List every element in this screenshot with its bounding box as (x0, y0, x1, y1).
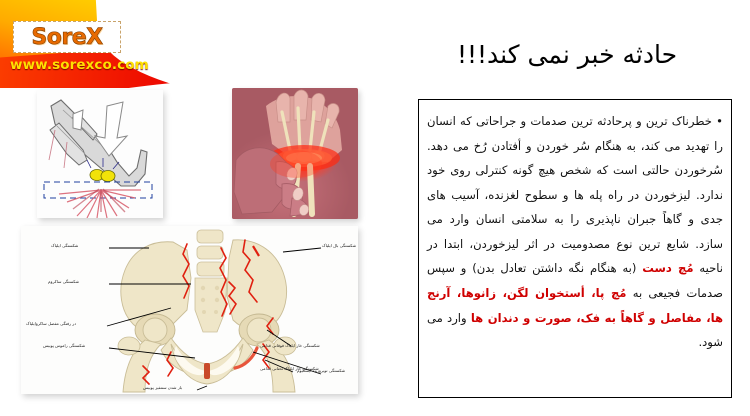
label-pubic-ramus-fracture: شکستگی راموس پوبیس (43, 344, 85, 349)
page-title: حادثه خبر نمی کند!!! (402, 40, 732, 69)
label-sacroiliac-dislocation: در رفتگی مفصل ساکروایلیاک (26, 322, 76, 327)
wrist-pain-photo (232, 88, 358, 219)
label-asis-fracture: شکستگی خار ایلیاک فوقانی قدامی (260, 344, 320, 349)
pelvis-fracture-diagram: شکستگی ایلیاک شکستگی ساکروم در رفتگی مفص… (21, 226, 358, 394)
label-iliac-fracture: شکستگی ایلیاک (51, 244, 78, 249)
website-url: www.sorexco.com (10, 57, 149, 73)
body-text-run-0: خطرناک ترین و پرحادثه ترین صدمات و جراحا… (427, 114, 723, 275)
label-symphysis-pubis-open: باز شدن سمفیز پوبیس (143, 386, 182, 391)
body-paragraph: • خطرناک ترین و پرحادثه ترین صدمات و جرا… (427, 109, 723, 355)
logo-text: SoreX (31, 25, 102, 50)
label-ischial-tuberosity: شکستگی توبروزیته ایسکیوم (297, 369, 345, 374)
label-sacrum-fracture: شکستگی ساکروم (48, 280, 79, 285)
slide-canvas: SoreX www.sorexco.com حادثه خبر نمی کند!… (0, 0, 750, 416)
wrist-impact-diagram-card (37, 90, 163, 218)
body-text-run-1: مُچ دست (642, 261, 693, 275)
label-iliac-wing-fracture: شکستگی بال ایلیاک (322, 244, 356, 249)
body-text-box: • خطرناک ترین و پرحادثه ترین صدمات و جرا… (418, 99, 732, 398)
logo-box: SoreX (13, 21, 121, 53)
bullet-marker: • (712, 114, 723, 128)
wrist-pain-photo-card (232, 88, 358, 219)
pelvis-fracture-diagram-card: شکستگی ایلیاک شکستگی ساکروم در رفتگی مفص… (21, 226, 358, 394)
wrist-impact-diagram (37, 90, 163, 218)
